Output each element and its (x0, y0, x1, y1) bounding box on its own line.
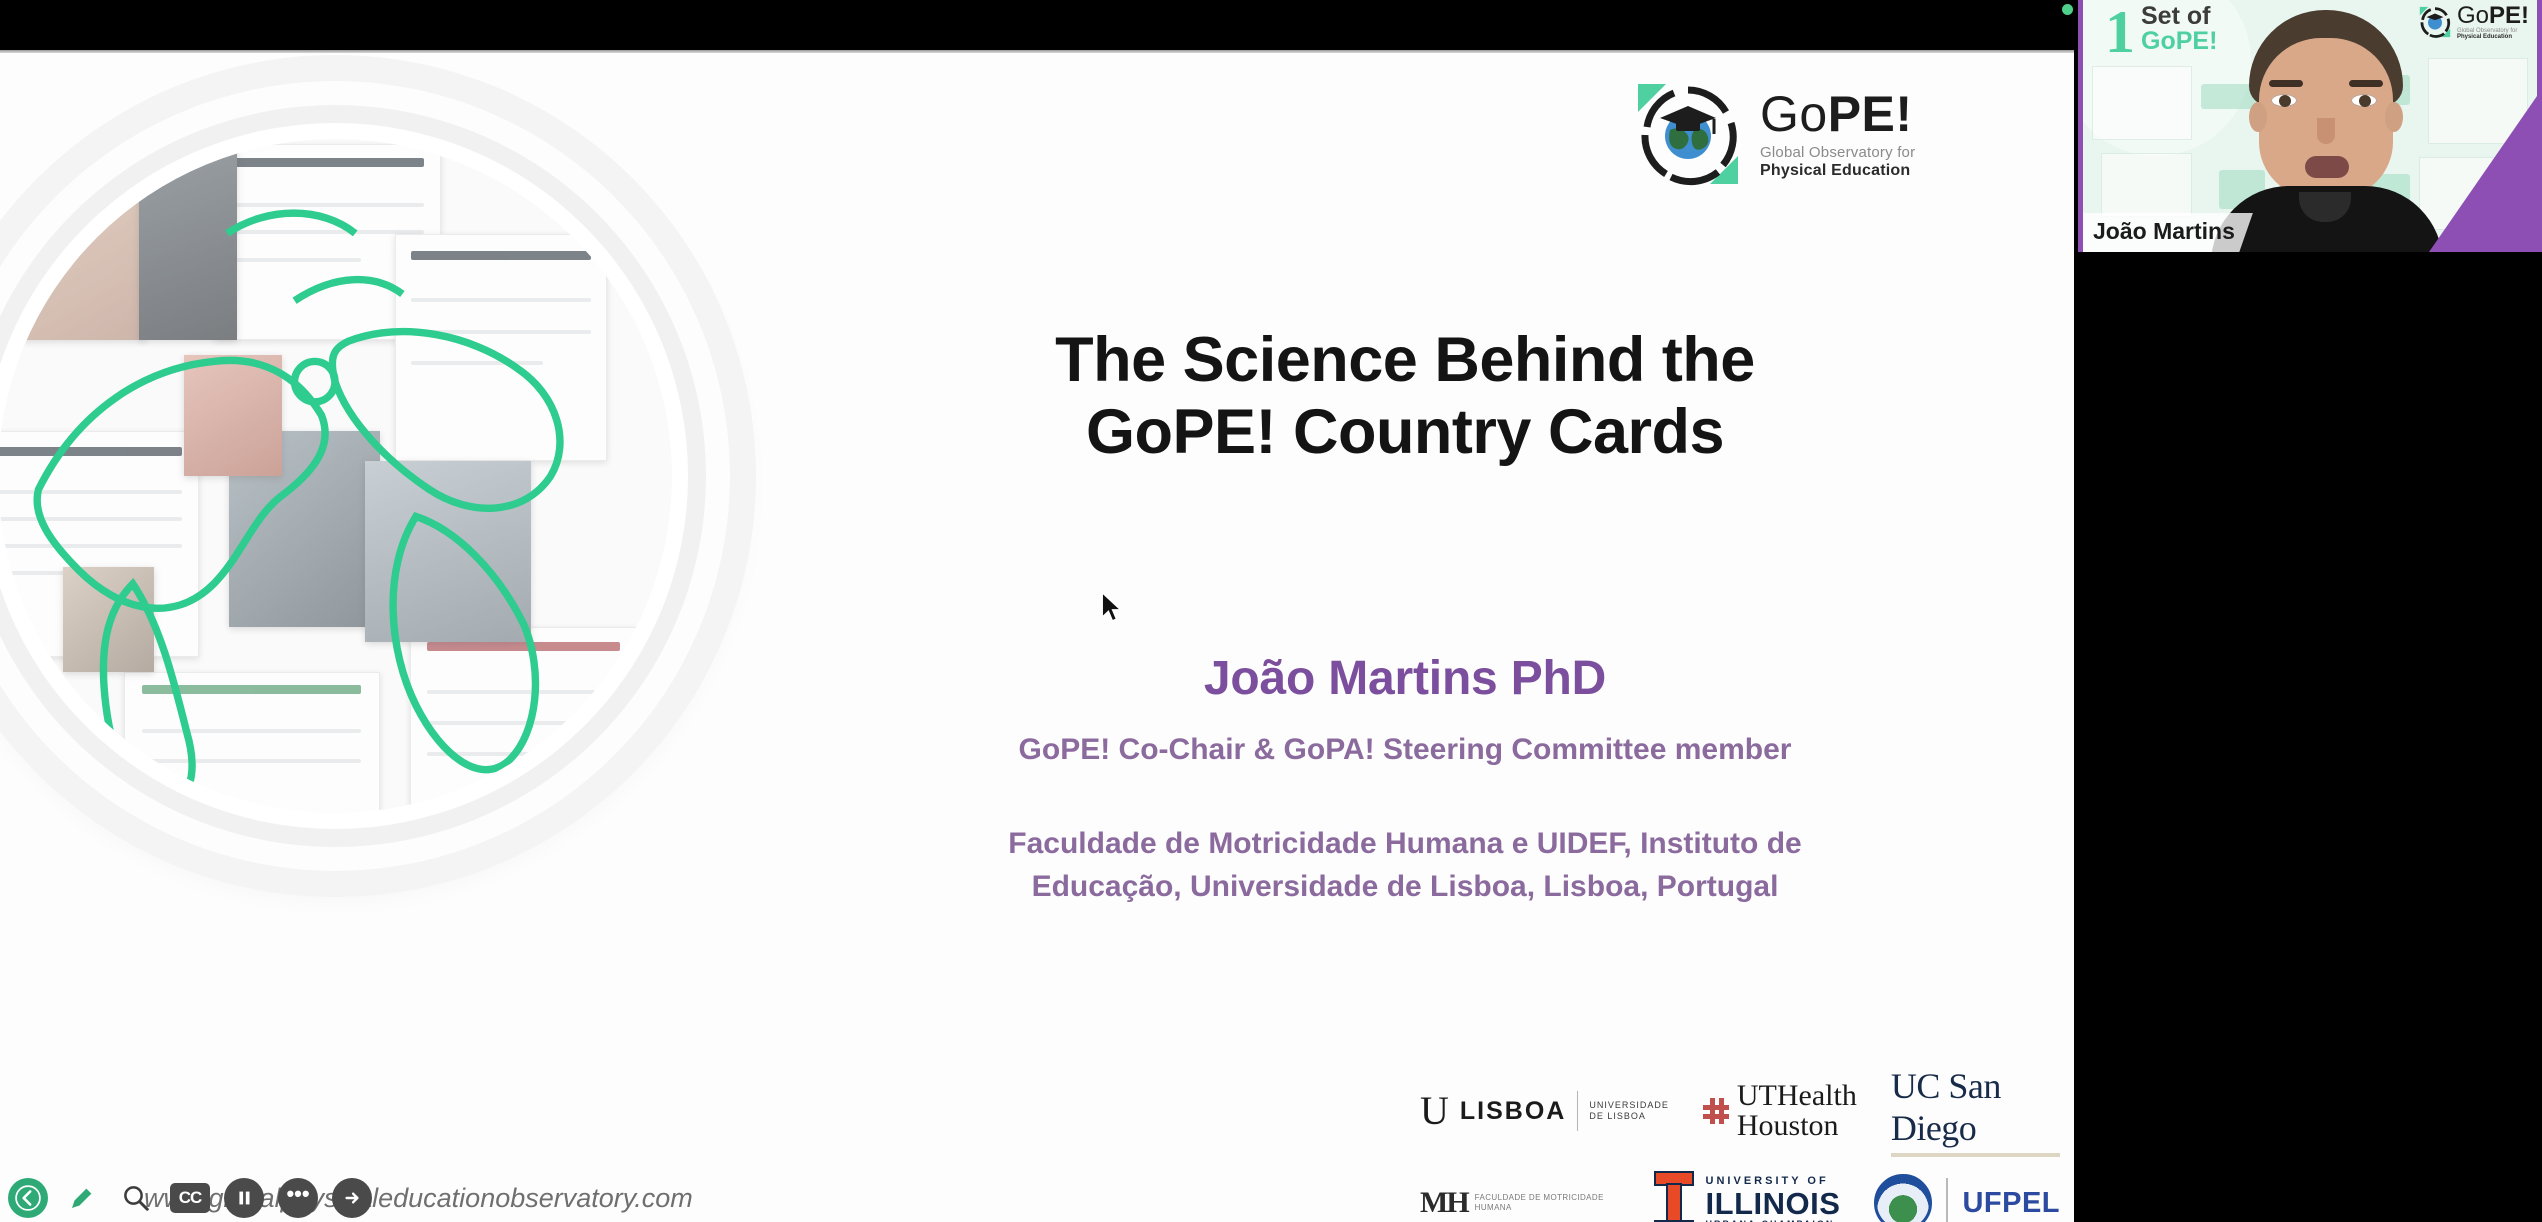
arrow-right-icon (339, 1185, 365, 1211)
illinois-block-i-icon (1654, 1171, 1694, 1222)
annotate-pencil-button[interactable] (62, 1178, 102, 1218)
u-lisboa-name: LISBOA (1460, 1097, 1566, 1126)
zoom-search-button[interactable] (116, 1178, 156, 1218)
participant-video-tile[interactable]: 1 Set of GoPE! (2078, 0, 2542, 252)
pause-icon (233, 1187, 255, 1209)
partner-logo-row-1: U LISBOA UNIVERSIDADE DE LISBOA (1420, 1065, 2060, 1157)
video-gope-tagline-2: Physical Education (2457, 34, 2529, 40)
figure-brow-right (2349, 80, 2383, 87)
video-badge-number: 1 (2105, 0, 2135, 67)
fmh-mark: MH (1420, 1186, 1468, 1220)
globe-continent-outlines (0, 139, 672, 813)
figure-ear-right (2385, 102, 2403, 132)
previous-slide-button[interactable] (8, 1178, 48, 1218)
slide-title-line-2: GoPE! Country Cards (860, 397, 1950, 469)
slide-affiliation: Faculdade de Motricidade Humana e UIDEF,… (840, 823, 1970, 908)
gope-tagline-2: Physical Education (1760, 163, 1915, 179)
next-slide-button[interactable] (332, 1178, 372, 1218)
gope-name: GoPE! (1760, 89, 1915, 139)
participant-video-rail: 1 Set of GoPE! (2074, 0, 2542, 1222)
logo-u-lisboa: U LISBOA UNIVERSIDADE DE LISBOA (1420, 1091, 1669, 1131)
more-options-button[interactable]: ••• (278, 1178, 318, 1218)
arrow-left-icon (15, 1185, 41, 1211)
u-lisboa-subtitle: UNIVERSIDADE DE LISBOA (1589, 1100, 1669, 1123)
figure-mouth (2305, 156, 2349, 178)
figure-iris-right (2359, 95, 2371, 107)
recording-indicator-dot (2062, 4, 2073, 15)
logo-uc-san-diego: UC San Diego (1891, 1065, 2060, 1157)
search-icon (121, 1183, 151, 1213)
video-gope-wordmark: GoPE! Global Observatory for Physical Ed… (2457, 4, 2529, 40)
partner-logos: U LISBOA UNIVERSIDADE DE LISBOA (1420, 1065, 2060, 1222)
figure-ear-left (2249, 102, 2267, 132)
affiliation-line-2: Educação, Universidade de Lisboa, Lisboa… (840, 866, 1970, 909)
gope-logo: GoPE! Global Observatory for Physical Ed… (1632, 75, 1982, 193)
slide-title: The Science Behind the GoPE! Country Car… (860, 325, 1950, 469)
ut-health-hash-icon (1703, 1098, 1729, 1124)
ufpel-divider (1946, 1178, 1948, 1222)
logo-fmh: MH FACULDADE DE MOTRICIDADE HUMANA (1420, 1186, 1620, 1220)
ut-health-name: UTHealth Houston (1737, 1081, 1857, 1141)
logo-ufpel: UFPEL (1874, 1174, 2060, 1222)
slide-author: João Martins PhD (860, 651, 1950, 706)
figure-nose (2317, 118, 2335, 144)
globe-inner-disc (0, 139, 672, 813)
slide-author-role: GoPE! Co-Chair & GoPA! Steering Committe… (860, 733, 1950, 767)
u-lisboa-divider (1577, 1091, 1578, 1131)
logo-university-of-illinois: UNIVERSITY OF ILLINOIS URBANA-CHAMPAIGN (1654, 1171, 1841, 1222)
shared-screen-stage: GoPE! Global Observatory for Physical Ed… (0, 0, 2074, 1222)
affiliation-line-1: Faculdade de Motricidade Humana e UIDEF,… (840, 823, 1970, 866)
presentation-toolbar[interactable]: CC ••• (8, 1178, 372, 1218)
illinois-name: UNIVERSITY OF ILLINOIS URBANA-CHAMPAIGN (1706, 1176, 1841, 1222)
gope-globe-mark (1632, 78, 1744, 190)
figure-iris-left (2279, 95, 2291, 107)
mouse-cursor (1100, 591, 1126, 625)
fmh-name: FACULDADE DE MOTRICIDADE HUMANA (1475, 1193, 1620, 1212)
figure-brow-left (2269, 80, 2303, 87)
u-lisboa-mark: U (1420, 1093, 1449, 1129)
pause-button[interactable] (224, 1178, 264, 1218)
participant-name-label: João Martins (2083, 213, 2253, 252)
slide-title-line-1: The Science Behind the (860, 325, 1950, 397)
video-rail-empty-area (2078, 252, 2542, 1222)
ufpel-seal-icon (1874, 1174, 1932, 1222)
gope-tagline-1: Global Observatory for (1760, 145, 1915, 160)
slide-top-letterbox (0, 0, 2074, 50)
pencil-icon (67, 1183, 97, 1213)
ufpel-name: UFPEL (1962, 1187, 2060, 1220)
screen-share-window: GoPE! Global Observatory for Physical Ed… (0, 0, 2542, 1222)
partner-logo-row-2: MH FACULDADE DE MOTRICIDADE HUMANA UNIVE… (1420, 1157, 2060, 1222)
logo-ut-health-houston: UTHealth Houston (1703, 1081, 1857, 1141)
presentation-slide[interactable]: GoPE! Global Observatory for Physical Ed… (0, 53, 2074, 1222)
globe-collage-graphic (0, 81, 730, 871)
gope-wordmark: GoPE! Global Observatory for Physical Ed… (1760, 89, 1915, 179)
closed-captions-button[interactable]: CC (170, 1183, 210, 1213)
